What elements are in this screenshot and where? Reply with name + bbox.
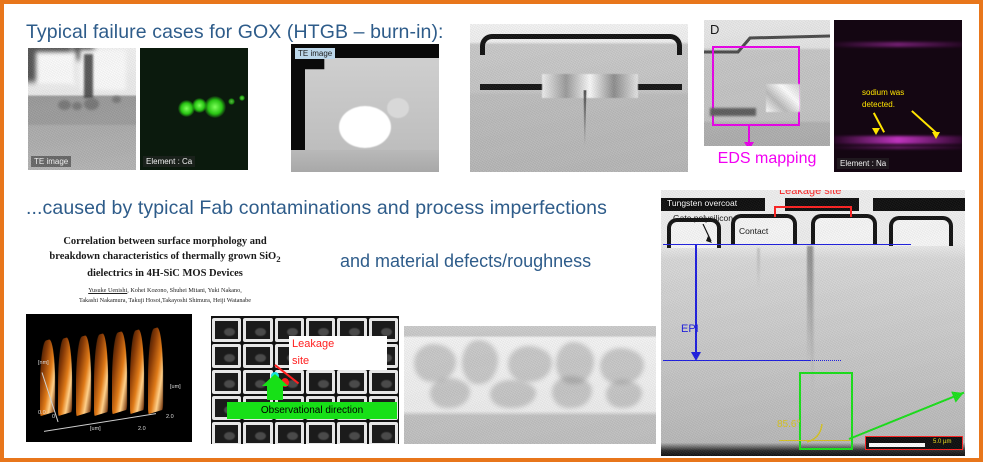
leakage-site-callout: Leakage site <box>289 336 387 370</box>
observational-direction-arrow-icon <box>267 384 283 400</box>
cause-heading: ...caused by typical Fab contaminations … <box>26 198 607 218</box>
page-title: Typical failure cases for GOX (HTGB – bu… <box>26 22 444 42</box>
na-element-map-panel: sodium was detected. Element : Na <box>834 20 962 172</box>
paper-title-subscript: 2 <box>276 254 280 264</box>
tem-image-panel: TE image <box>28 48 136 170</box>
paper-authors-line1-rest: , Kohei Kozono, Shuhei Mitani, Yuki Naka… <box>127 287 242 294</box>
afm-3d-surface-panel: [nm] 0.0 0 [um] 2.0 2.0 [um] <box>26 314 192 442</box>
leakage-site-label-line1: Leakage <box>289 336 387 353</box>
sodium-note-line1: sodium was <box>862 88 904 99</box>
paper-title-line1: Correlation between surface morphology a… <box>63 236 266 247</box>
afm-x-tick-min: 0.0 <box>38 410 46 416</box>
angle-label: 85.6° <box>777 420 800 431</box>
eds-mapping-caption-box: EDS mapping <box>704 146 830 172</box>
scale-bar-label: 5.0 µm <box>933 439 951 445</box>
te-image-void-caption: TE image <box>295 48 335 59</box>
leakage-site-label-line2: site <box>289 353 387 370</box>
afm-z-axis-label: [nm] <box>38 360 49 366</box>
na-element-map-caption: Element : Na <box>837 158 889 169</box>
te-image-void-panel: TE image <box>291 44 439 172</box>
sodium-note-line2: detected. <box>862 100 895 111</box>
eds-mapping-label: EDS mapping <box>718 150 817 168</box>
ca-element-map-caption: Element : Ca <box>143 156 195 167</box>
afm-x-tick-max: 2.0 <box>138 426 146 432</box>
gate-polysilicon-label: Gate polysilicon <box>673 214 733 223</box>
observational-direction-label: Observational direction <box>261 405 363 416</box>
paper-authors-line2: Takashi Nakamura, Takuji Hosoi,Takayoshi… <box>79 297 251 304</box>
tungsten-overcoat-label: Tungsten overcoat <box>667 199 737 208</box>
slide-canvas: Typical failure cases for GOX (HTGB – bu… <box>0 0 983 462</box>
afm-y-axis-label: [um] <box>170 384 181 390</box>
epi-label: EPI <box>681 324 699 336</box>
paper-author-first: Yusuke Uenishi <box>88 287 127 294</box>
contact-label: Contact <box>739 227 768 236</box>
sem-array-panel: Leakage site Observational direction <box>211 316 399 444</box>
paper-title-line2: breakdown characteristics of thermally g… <box>49 251 276 262</box>
material-heading: and material defects/roughness <box>340 252 591 271</box>
afm-y-tick-max: 2.0 <box>166 414 174 420</box>
polysilicon-grain-tem-panel <box>404 326 656 444</box>
device-cross-section-panel: Leakage site Tungsten overcoat Gate poly… <box>661 190 965 456</box>
paper-reference: Correlation between surface morphology a… <box>26 234 304 305</box>
ca-element-map-panel: Element : Ca <box>140 48 248 170</box>
tem-image-caption: TE image <box>31 156 71 167</box>
big-leakage-site-label: Leakage site <box>779 190 841 198</box>
afm-y-tick-min: 0 <box>52 414 55 420</box>
burnin-cross-section-panel <box>470 24 688 172</box>
paper-title-line3: dielectrics in 4H-SiC MOS Devices <box>87 268 243 279</box>
afm-x-axis-label: [um] <box>90 426 101 432</box>
observational-direction-callout: Observational direction <box>227 402 397 419</box>
